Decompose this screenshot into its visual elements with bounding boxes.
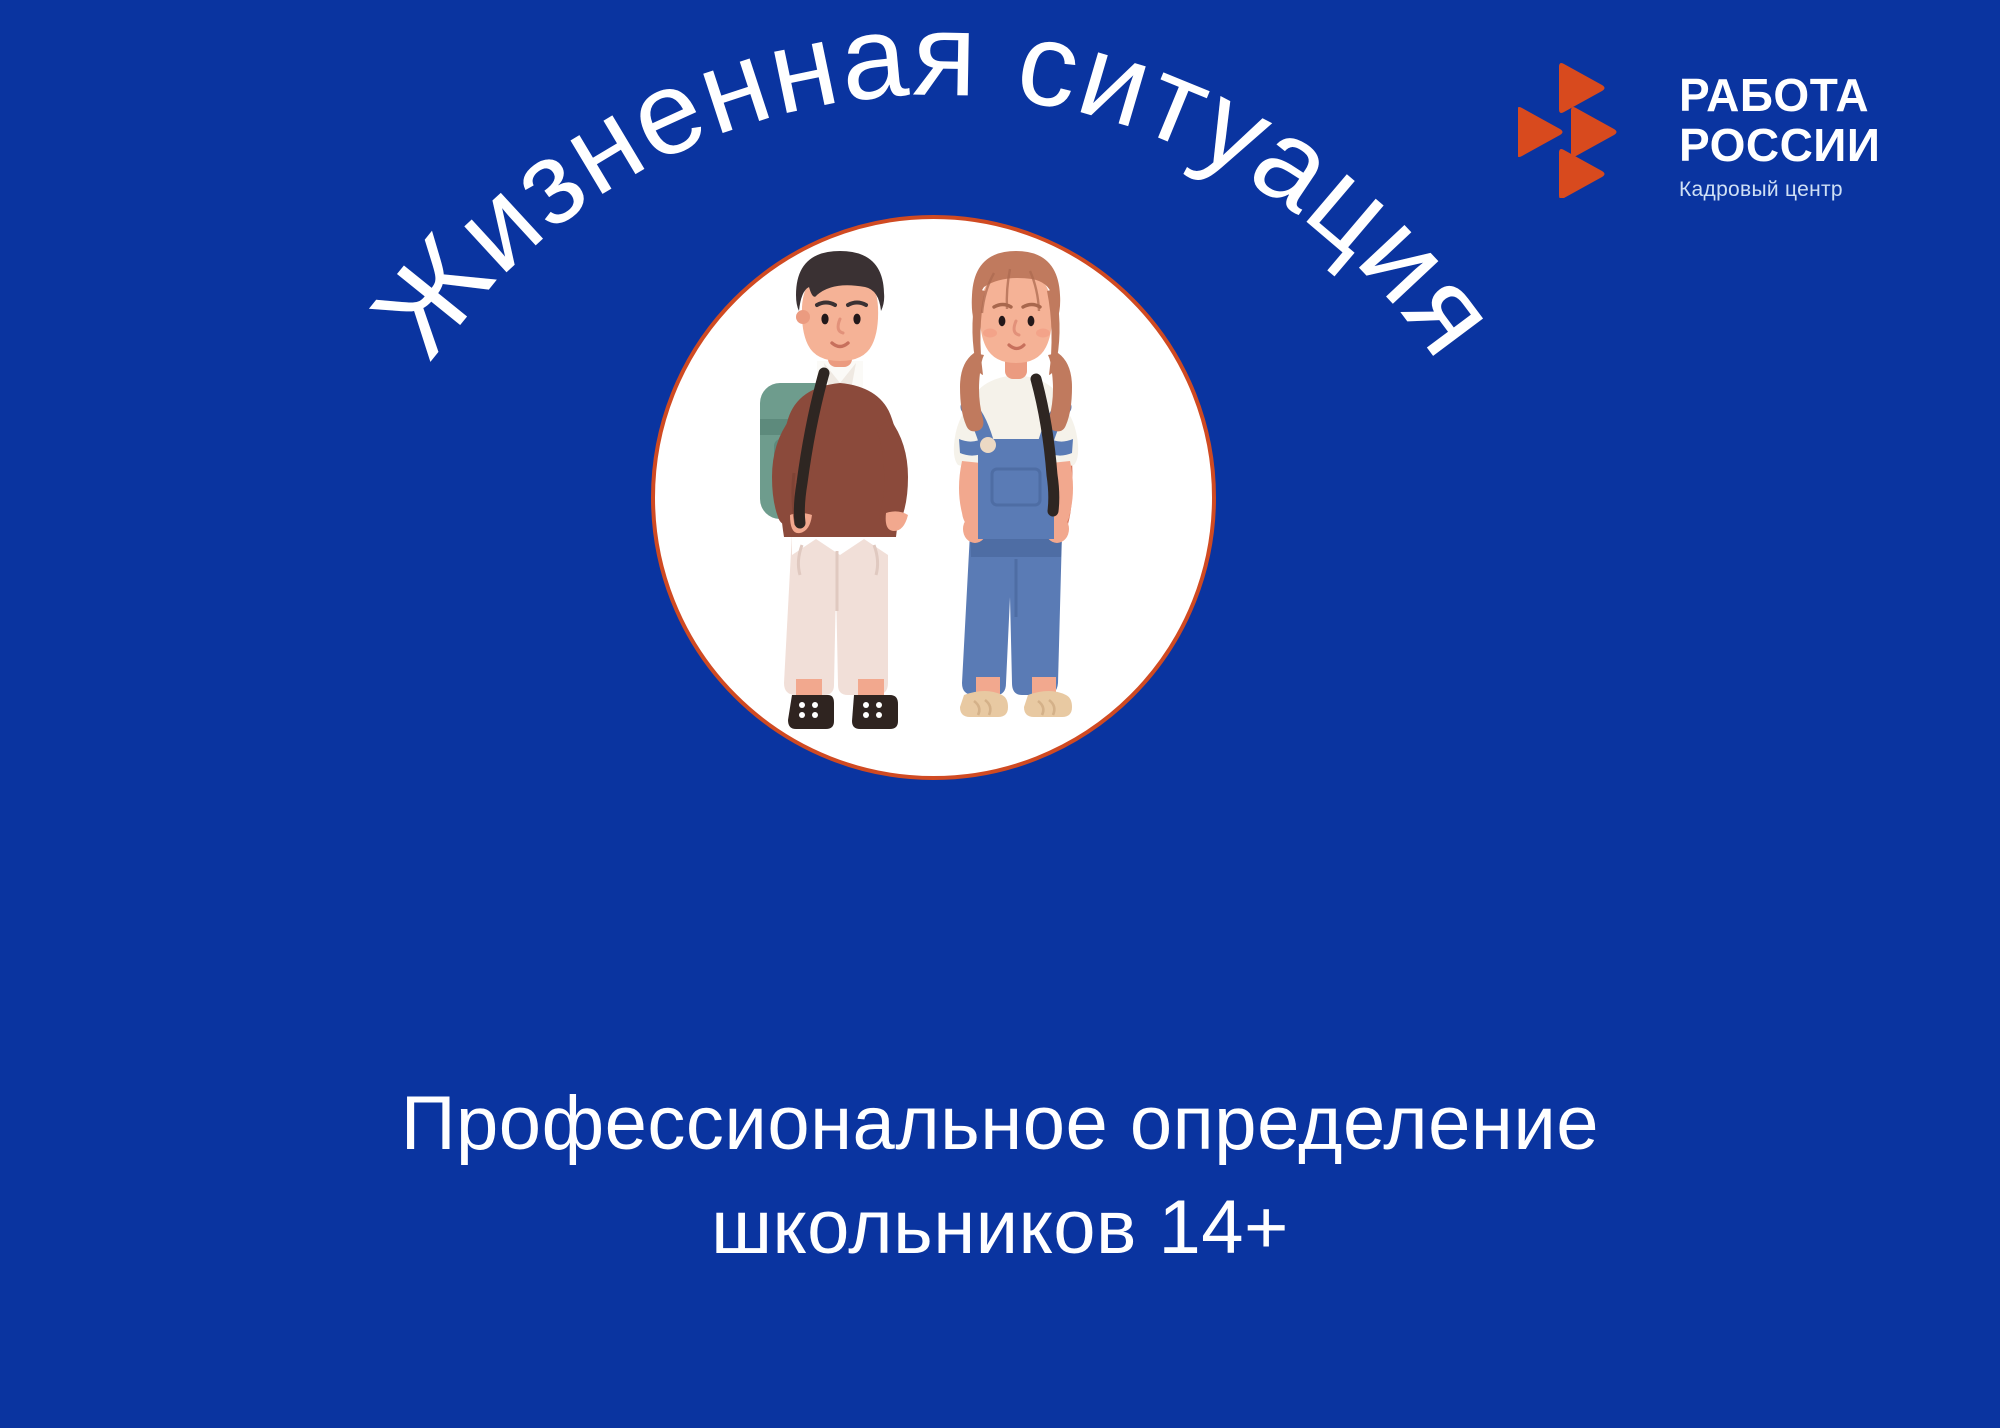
girl-figure [953,251,1077,717]
caption-line-2: школьников 14+ [0,1176,2000,1280]
logo-tagline: Кадровый центр [1679,176,1880,204]
boy-figure [760,251,908,729]
caption-block: Профессиональное определение школьников … [0,1072,2000,1280]
logo-line-2: РОССИИ [1679,120,1880,170]
rabota-rossii-logo[interactable]: РАБОТА РОССИИ Кадровый центр [1518,58,1938,208]
students-illustration [674,233,1194,763]
illustration-circle [651,215,1216,780]
caption-line-1: Профессиональное определение [0,1072,2000,1176]
logo-wordmark: РАБОТА РОССИИ Кадровый центр [1679,58,1880,204]
poster-canvas: Жизненная ситуация РАБОТА РОССИИ Кадровы… [0,0,2000,1428]
rabota-rossii-triangles-icon [1518,58,1653,198]
logo-line-1: РАБОТА [1679,70,1880,120]
